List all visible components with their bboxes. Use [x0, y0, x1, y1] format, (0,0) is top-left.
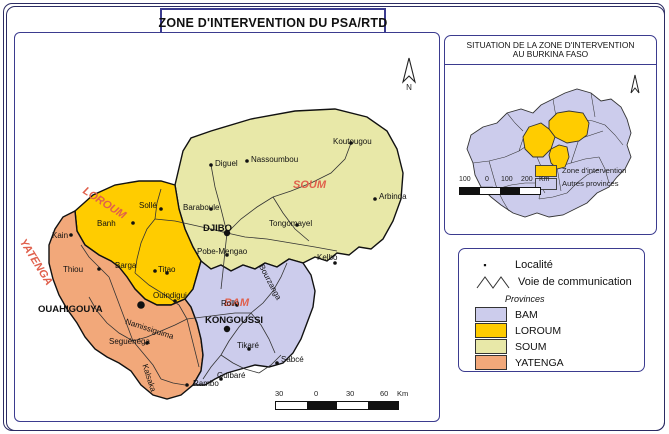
city-label-kongoussi: KONGOUSSI — [205, 315, 263, 326]
province-label-soum: SOUM — [293, 179, 326, 191]
locality-label-barga: Barga — [115, 261, 136, 270]
inset-north-arrow — [627, 73, 643, 101]
legend-label-locality: Localité — [515, 259, 553, 271]
locality-label-ouindigui: Ouindigui — [153, 291, 187, 300]
legend-item-soum: SOUM — [475, 339, 635, 354]
locality-label-tikare: Tikaré — [237, 341, 259, 350]
locality-label-sabce: Sabcé — [281, 355, 304, 364]
legend-item-locality: ▪ Localité — [475, 257, 635, 273]
inset-scale-bar-graphic — [459, 187, 541, 195]
inset-title-box: SITUATION DE LA ZONE D'INTERVENTION AU B… — [445, 36, 656, 65]
inset-legend-swatch-intervention — [535, 165, 557, 177]
legend-province-list: BAM LOROUM SOUM YATENGA — [475, 307, 635, 371]
inset-scale-label-3: 200 — [521, 176, 533, 183]
inset-scale-label-0: 100 — [459, 176, 471, 183]
legend-label-soum: SOUM — [515, 341, 547, 353]
north-arrow: N — [398, 56, 420, 96]
locality-label-thiou: Thiou — [63, 265, 83, 274]
legend-swatch-yatenga — [475, 355, 507, 370]
inset-title-line2: AU BURKINA FASO — [513, 50, 588, 59]
scale-bar-graphic — [275, 401, 399, 410]
scale-label-3: 60 — [380, 389, 388, 398]
locality-label-guibare: Guibaré — [217, 371, 245, 380]
scale-bar: 30 0 30 60 Km — [275, 389, 415, 413]
scale-unit: Km — [397, 389, 408, 398]
legend-label-loroum: LOROUM — [515, 325, 561, 337]
inset-legend-label-other: Autres provinces — [562, 179, 619, 188]
legend-swatch-loroum — [475, 323, 507, 338]
locality-label-titao: Titao — [158, 265, 176, 274]
legend-label-bam: BAM — [515, 309, 538, 321]
locality-label-nassoumbou: Nassoumbou — [251, 155, 298, 164]
locality-label-solle: Sollé — [139, 201, 157, 210]
map-legend: ▪ Localité Voie de communication Provinc… — [458, 248, 645, 372]
legend-label-yatenga: YATENGA — [515, 357, 564, 369]
inset-legend-item-other: Autres provinces — [535, 177, 639, 190]
locality-label-pobe-mengao: Pobe-Mengao — [197, 247, 247, 256]
locality-label-tongomayel: Tongomayel — [269, 219, 312, 228]
locality-label-kelbo: Kelbo — [317, 253, 337, 262]
locality-dot-icon: ▪ — [475, 260, 495, 270]
scale-label-1: 0 — [314, 389, 318, 398]
legend-item-route: Voie de communication — [475, 273, 640, 291]
inset-scale-bar: 100 0 100 200 Km — [459, 176, 547, 198]
map-figure: ZONE D'INTERVENTION DU PSA/RTD — [0, 0, 669, 434]
locality-label-koutougou: Koutougou — [333, 137, 372, 146]
locality-label-banh: Banh — [97, 219, 116, 228]
inset-scale-label-1: 0 — [485, 176, 489, 183]
inset-legend: Zone d'intervention Autres provinces — [535, 164, 639, 190]
inset-legend-item-intervention: Zone d'intervention — [535, 164, 639, 177]
legend-item-yatenga: YATENGA — [475, 355, 635, 370]
locality-label-baraboule: Baraboule — [183, 203, 219, 212]
figure-title: ZONE D'INTERVENTION DU PSA/RTD — [159, 16, 388, 30]
locality-label-rambo: Rambo — [193, 379, 219, 388]
locality-label-arbinda: Arbinda — [379, 192, 407, 201]
legend-swatch-soum — [475, 339, 507, 354]
city-label-ouahigouya: OUAHIGOUYA — [38, 304, 103, 315]
inset-scale-label-2: 100 — [501, 176, 513, 183]
inset-map-panel: SITUATION DE LA ZONE D'INTERVENTION AU B… — [444, 35, 657, 235]
inset-legend-label-intervention: Zone d'intervention — [562, 166, 626, 175]
scale-label-2: 30 — [346, 389, 354, 398]
north-arrow-icon — [398, 56, 420, 86]
main-map-panel: SOUM LOROUM YATENGA BAM DJIBO OUAHIGOUYA… — [14, 32, 440, 422]
locality-label-kain: Kain — [52, 231, 68, 240]
legend-swatch-bam — [475, 307, 507, 322]
locality-label-diguel: Diguel — [215, 159, 238, 168]
inset-map-svg — [445, 65, 656, 233]
legend-heading-provinces: Provinces — [505, 294, 545, 304]
legend-label-route: Voie de communication — [518, 276, 632, 288]
legend-item-bam: BAM — [475, 307, 635, 322]
scale-label-0: 30 — [275, 389, 283, 398]
city-label-djibo: DJIBO — [203, 223, 232, 234]
north-arrow-label: N — [398, 83, 420, 92]
inset-north-arrow-icon — [627, 73, 643, 97]
route-line-icon — [475, 274, 515, 290]
inset-scale-unit: Km — [539, 176, 550, 183]
locality-label-seguenega: Seguénéga — [109, 337, 150, 346]
legend-item-loroum: LOROUM — [475, 323, 635, 338]
locality-label-rollo: Rollo — [221, 299, 239, 308]
